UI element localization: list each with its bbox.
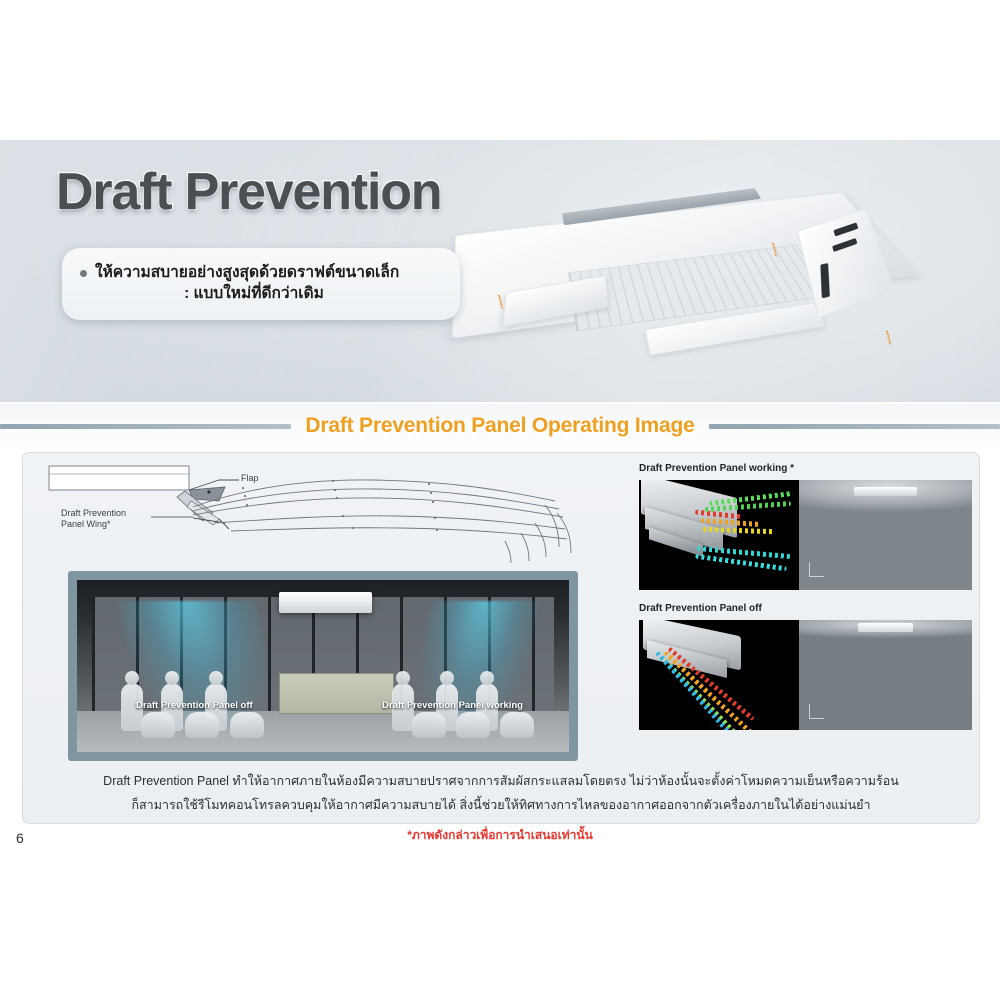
office-chair: [456, 712, 490, 738]
body-paragraph-line-2: ก็สามารถใช้รีโมทคอนโทรลควบคุมให้อากาศมีค…: [53, 793, 949, 817]
axis-marker: [809, 562, 824, 577]
office-chair: [500, 712, 534, 738]
office-chair: [230, 712, 264, 738]
panel-wing-label-line1: Draft Prevention: [61, 508, 126, 518]
thermal-panel-working: Draft Prevention Panel working *: [639, 463, 972, 590]
slide-page: ⦚ ⦚ ⦚ Draft Prevention ให้ความสบายอย่างส…: [0, 140, 1000, 852]
section-title: Draft Prevention Panel Operating Image: [305, 414, 694, 438]
hero-band: ⦚ ⦚ ⦚ Draft Prevention ให้ความสบายอย่างส…: [0, 140, 1000, 402]
content-card: Flap Draft Prevention Panel Wing*: [22, 452, 980, 824]
thermal-working-title: Draft Prevention Panel working *: [639, 463, 972, 474]
panel-wing-label-line2: Panel Wing*: [61, 519, 111, 529]
ceiling-cassette-unit: [279, 592, 372, 613]
callout-line-2: : แบบใหม่ที่ดีกว่าเดิม: [80, 284, 446, 305]
page-number: 6: [16, 830, 24, 846]
body-paragraph-line-1: Draft Prevention Panel ทำให้อากาศภายในห้…: [53, 769, 949, 793]
divider-rule-right: [709, 424, 1000, 429]
thermal-panel-off: Draft Prevention Panel off: [639, 603, 972, 730]
footnote-note: *ภาพดังกล่าวเพื่อการนำเสนอเท่านั้น: [0, 826, 1000, 845]
callout-line-1-row: ให้ความสบายอย่างสูงสุดด้วยดราฟต์ขนาดเล็ก: [80, 263, 446, 284]
thermal-off-title: Draft Prevention Panel off: [639, 603, 972, 614]
axis-marker: [809, 704, 824, 719]
bullet-dot-icon: [80, 270, 87, 277]
room-render-inner: Draft Prevention Panel off Draft Prevent…: [77, 580, 569, 752]
divider-rule-left: [0, 424, 291, 429]
room-caption-left: Draft Prevention Panel off: [136, 700, 253, 711]
thermal-off-image: [639, 620, 972, 730]
cfd-particle-view-working: [639, 480, 799, 590]
airflow-waves-icon-3: ⦚: [885, 328, 908, 348]
cfd-particle-view-off: [639, 620, 799, 730]
room-caption-right: Draft Prevention Panel working: [382, 700, 523, 711]
callout-line-1: ให้ความสบายอย่างสูงสุดด้วยดราฟต์ขนาดเล็ก: [95, 263, 399, 284]
hero-callout: ให้ความสบายอย่างสูงสุดด้วยดราฟต์ขนาดเล็ก…: [62, 248, 460, 320]
body-paragraph: Draft Prevention Panel ทำให้อากาศภายในห้…: [53, 769, 949, 818]
thermal-working-image: [639, 480, 972, 590]
flap-schematic: Flap Draft Prevention Panel Wing*: [43, 461, 603, 566]
office-chair: [412, 712, 446, 738]
page-title: Draft Prevention: [56, 162, 441, 222]
product-photo: ⦚ ⦚ ⦚: [455, 148, 985, 366]
flap-label: Flap: [241, 473, 259, 484]
room-render: Draft Prevention Panel off Draft Prevent…: [68, 571, 578, 761]
meeting-table: [279, 673, 394, 715]
panel-wing-label: Draft Prevention Panel Wing*: [61, 508, 126, 531]
flap-schematic-svg: [43, 461, 603, 566]
office-chair: [185, 712, 219, 738]
section-title-bar: Draft Prevention Panel Operating Image: [0, 404, 1000, 448]
cfd-thermal-view-working: [799, 480, 972, 590]
cfd-thermal-view-off: [799, 620, 972, 730]
office-chair: [141, 712, 175, 738]
